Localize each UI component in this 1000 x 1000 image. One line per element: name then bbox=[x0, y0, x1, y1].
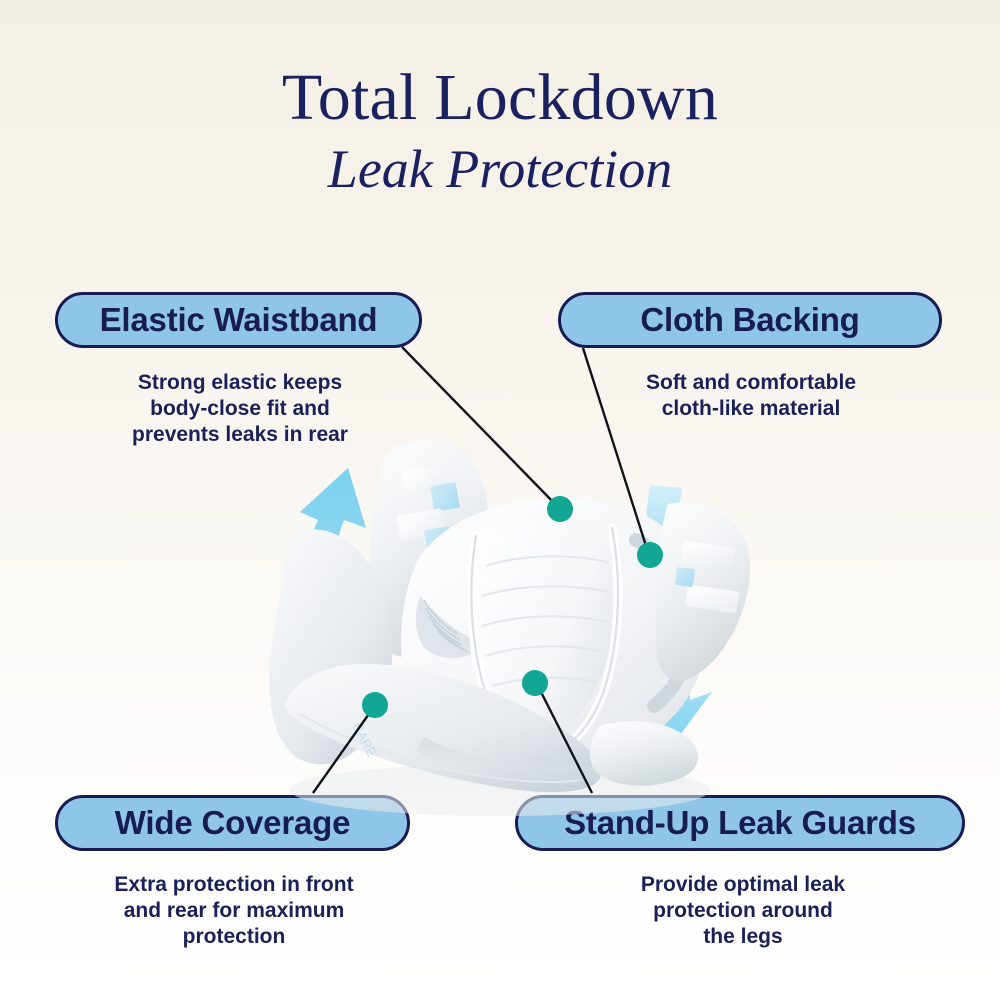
marker-wide-coverage-icon[interactable] bbox=[362, 692, 388, 718]
marker-cloth-backing-icon[interactable] bbox=[637, 542, 663, 568]
marker-dots bbox=[0, 0, 1000, 1000]
marker-elastic-waistband-icon[interactable] bbox=[547, 496, 573, 522]
infographic-canvas: Total Lockdown Leak Protection bbox=[0, 0, 1000, 1000]
marker-stand-up-leak-guards-icon[interactable] bbox=[522, 670, 548, 696]
